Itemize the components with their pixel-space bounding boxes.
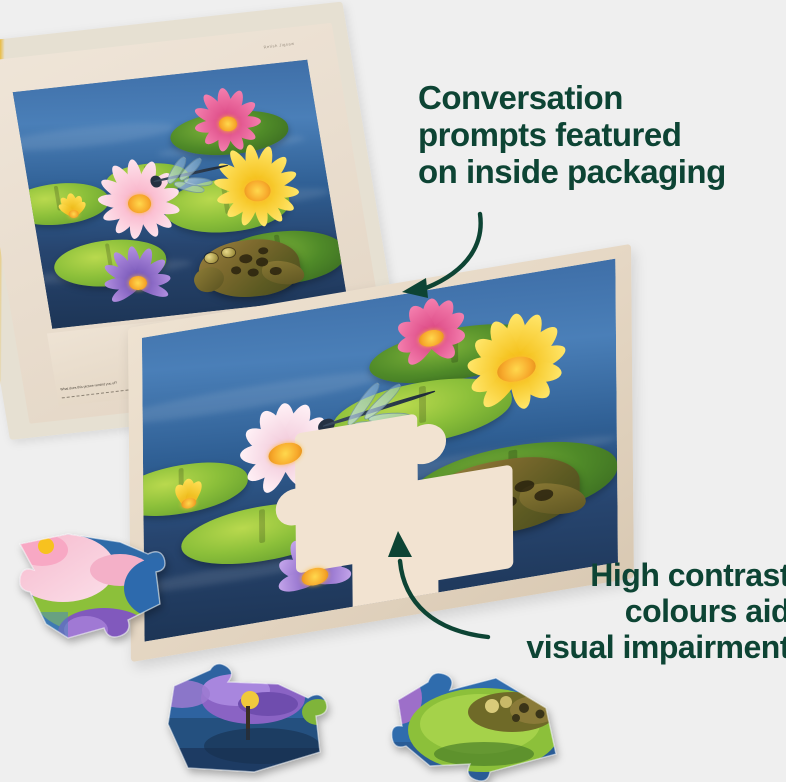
box-brand-text: Relish Jigsaw [263,41,295,50]
spotted-frog [194,235,304,303]
arrow-pointing-to-prompts [392,208,522,308]
loose-puzzle-piece-purple-lily[interactable] [158,660,336,780]
conversation-prompt: What does this picture remind you of? [60,379,133,398]
loose-puzzle-piece-frog[interactable] [384,668,568,782]
purple-water-lily [87,243,187,324]
callout-conversation-prompts: Conversation prompts featured on inside … [418,80,786,191]
product-photo-scene: Relish Jigsaw [0,0,786,782]
box-lid-artwork [13,60,347,329]
loose-puzzle-piece-pink-lily[interactable] [8,520,188,648]
callout-high-contrast: High contrast colours aid visual impairm… [455,558,786,665]
arrow-pointing-to-puzzle [368,525,498,650]
